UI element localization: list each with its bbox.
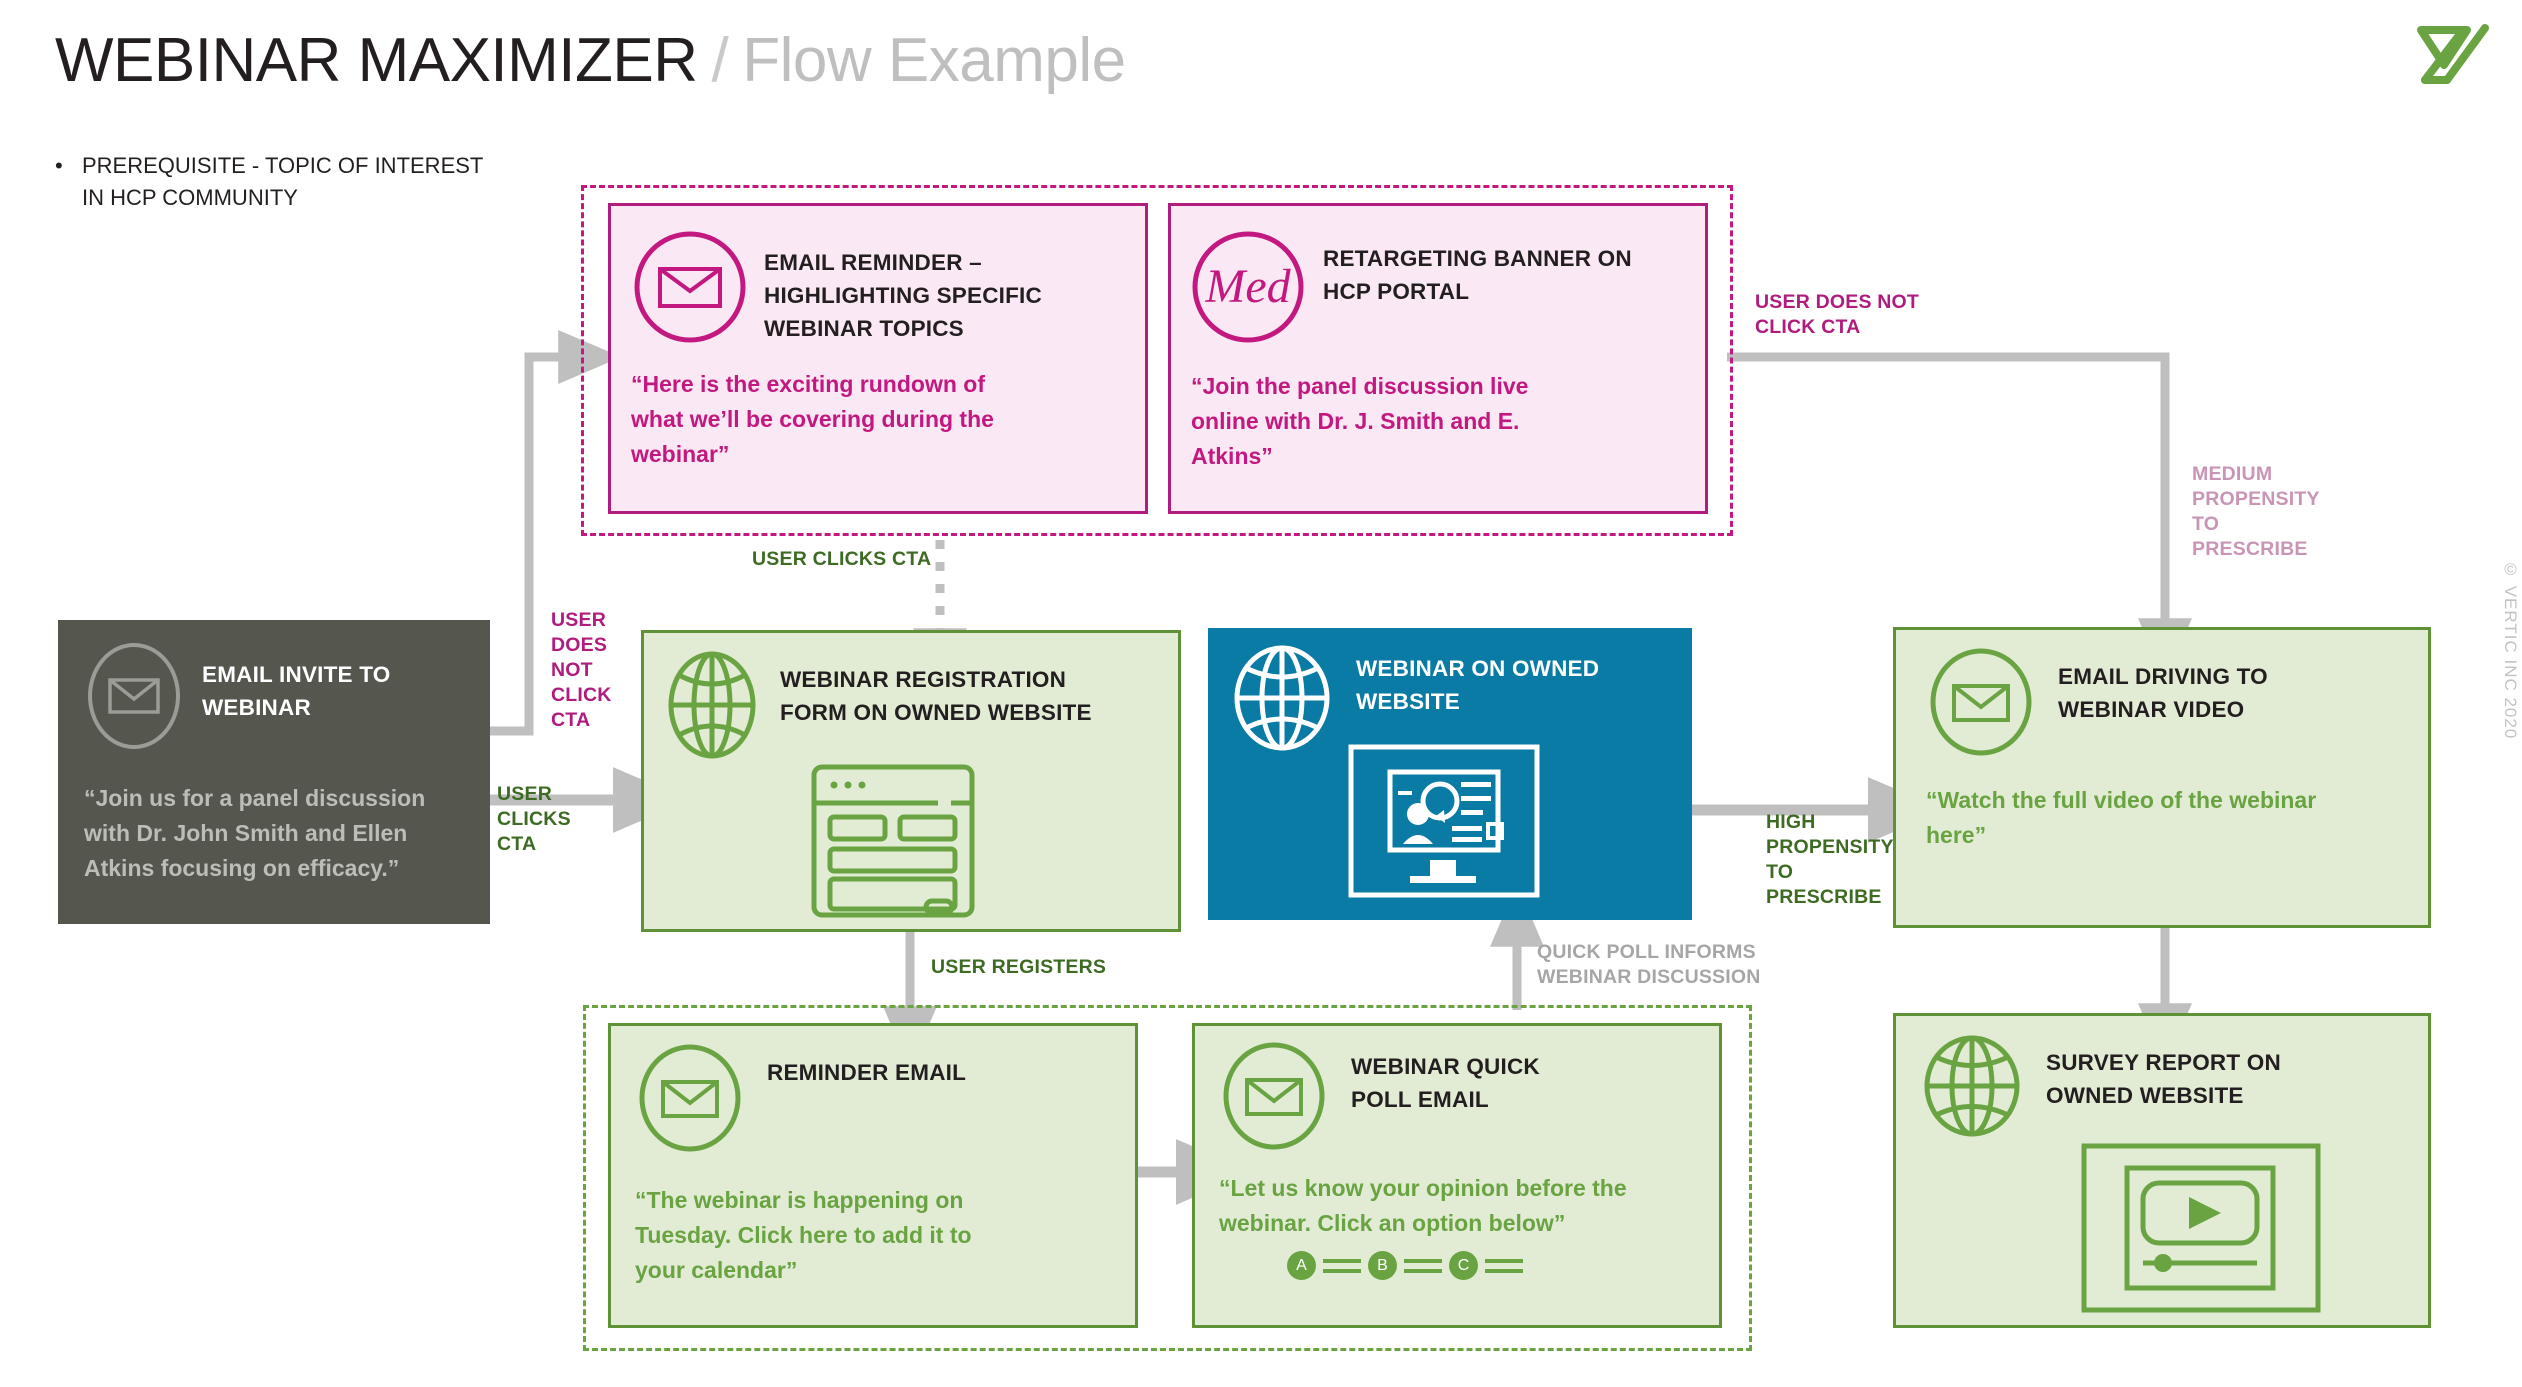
video-player-icon: [2081, 1143, 2321, 1318]
card-title: WEBINAR ON OWNED WEBSITE: [1356, 652, 1606, 718]
card-quote: “Watch the full video of the webinar her…: [1896, 763, 2346, 853]
globe-icon: [1230, 642, 1334, 759]
card-quote: “Here is the exciting rundown of what we…: [611, 351, 1031, 472]
card-email-driving-video[interactable]: EMAIL DRIVING TO WEBINAR VIDEO “Watch th…: [1893, 627, 2431, 928]
poll-bar-b: [1404, 1259, 1442, 1273]
poll-options-row[interactable]: A B C: [1287, 1251, 1719, 1280]
label-user-registers: USER REGISTERS: [931, 955, 1131, 980]
title-main: WEBINAR MAXIMIZER: [55, 26, 698, 95]
card-title: EMAIL INVITE TO WEBINAR: [202, 658, 412, 724]
svg-text:Med: Med: [1204, 260, 1291, 313]
med-badge-icon: Med: [1189, 228, 1307, 351]
card-quote: “The webinar is happening on Tuesday. Cl…: [611, 1159, 1045, 1288]
card-title: SURVEY REPORT ON OWNED WEBSITE: [2046, 1046, 2336, 1112]
card-survey-report[interactable]: SURVEY REPORT ON OWNED WEBSITE: [1893, 1013, 2431, 1328]
copyright-text: © VERTIC INC 2020: [2500, 560, 2520, 739]
bullet-icon: •: [55, 150, 63, 182]
poll-option-b[interactable]: B: [1368, 1251, 1397, 1280]
arrow-pink-to-emailvideo: [1727, 357, 2165, 620]
card-title: WEBINAR REGISTRATION FORM ON OWNED WEBSI…: [780, 663, 1120, 729]
card-reminder-email[interactable]: REMINDER EMAIL “The webinar is happening…: [608, 1023, 1138, 1328]
card-email-invite[interactable]: EMAIL INVITE TO WEBINAR “Join us for a p…: [58, 620, 490, 924]
prerequisite-note: • PREREQUISITE - TOPIC OF INTEREST IN HC…: [55, 150, 485, 214]
label-user-does-not-click-cta-right: USER DOES NOT CLICK CTA: [1755, 290, 1935, 340]
card-title: EMAIL DRIVING TO WEBINAR VIDEO: [2058, 660, 2328, 726]
card-email-reminder[interactable]: EMAIL REMINDER – HIGHLIGHTING SPECIFIC W…: [608, 203, 1148, 514]
card-title: WEBINAR QUICK POLL EMAIL: [1351, 1050, 1571, 1116]
card-quick-poll-email[interactable]: WEBINAR QUICK POLL EMAIL “Let us know yo…: [1192, 1023, 1722, 1328]
poll-bar-c: [1485, 1259, 1523, 1273]
envelope-icon: [635, 1042, 745, 1159]
globe-icon: [1920, 1032, 2024, 1145]
envelope-icon: [1926, 646, 2036, 763]
card-quote: “Join the panel discussion live online w…: [1171, 351, 1601, 474]
card-title: EMAIL REMINDER – HIGHLIGHTING SPECIFIC W…: [764, 246, 1084, 345]
title-subtitle: Flow Example: [742, 26, 1125, 95]
label-medium-propensity: MEDIUM PROPENSITY TO PRESCRIBE: [2192, 462, 2317, 562]
label-user-clicks-cta-top: USER CLICKS CTA: [752, 547, 942, 572]
title-separator: /: [712, 26, 729, 95]
envelope-icon: [631, 228, 749, 351]
card-title: REMINDER EMAIL: [767, 1056, 987, 1089]
label-quick-poll-informs: QUICK POLL INFORMS WEBINAR DISCUSSION: [1537, 940, 1787, 990]
card-webinar-on-website[interactable]: WEBINAR ON OWNED WEBSITE: [1208, 628, 1692, 920]
card-title: RETARGETING BANNER ON HCP PORTAL: [1323, 242, 1653, 308]
card-quote: “Let us know your opinion before the web…: [1195, 1157, 1695, 1241]
poll-option-c[interactable]: C: [1449, 1251, 1478, 1280]
web-form-icon: [808, 761, 978, 926]
label-user-does-not-click-cta-left: USER DOES NOT CLICK CTA: [551, 608, 613, 733]
vertic-logo-icon: [2407, 18, 2497, 93]
label-high-propensity: HIGH PROPENSITY TO PRESCRIBE: [1766, 810, 1891, 910]
poll-option-a[interactable]: A: [1287, 1251, 1316, 1280]
card-registration-form[interactable]: WEBINAR REGISTRATION FORM ON OWNED WEBSI…: [641, 630, 1181, 932]
envelope-icon: [1219, 1040, 1329, 1157]
card-retargeting-banner[interactable]: Med RETARGETING BANNER ON HCP PORTAL “Jo…: [1168, 203, 1708, 514]
card-quote: “Join us for a panel discussion with Dr.…: [58, 757, 489, 886]
globe-icon: [662, 649, 762, 766]
envelope-icon: [84, 640, 184, 757]
arrow-invite-to-pink: [489, 357, 560, 731]
label-user-clicks-cta-left: USER CLICKS CTA: [497, 782, 607, 857]
page-title: WEBINAR MAXIMIZER/Flow Example: [55, 25, 1126, 96]
presentation-screen-icon: [1348, 744, 1540, 903]
prerequisite-text: PREREQUISITE - TOPIC OF INTEREST IN HCP …: [82, 150, 485, 214]
poll-bar-a: [1323, 1259, 1361, 1273]
